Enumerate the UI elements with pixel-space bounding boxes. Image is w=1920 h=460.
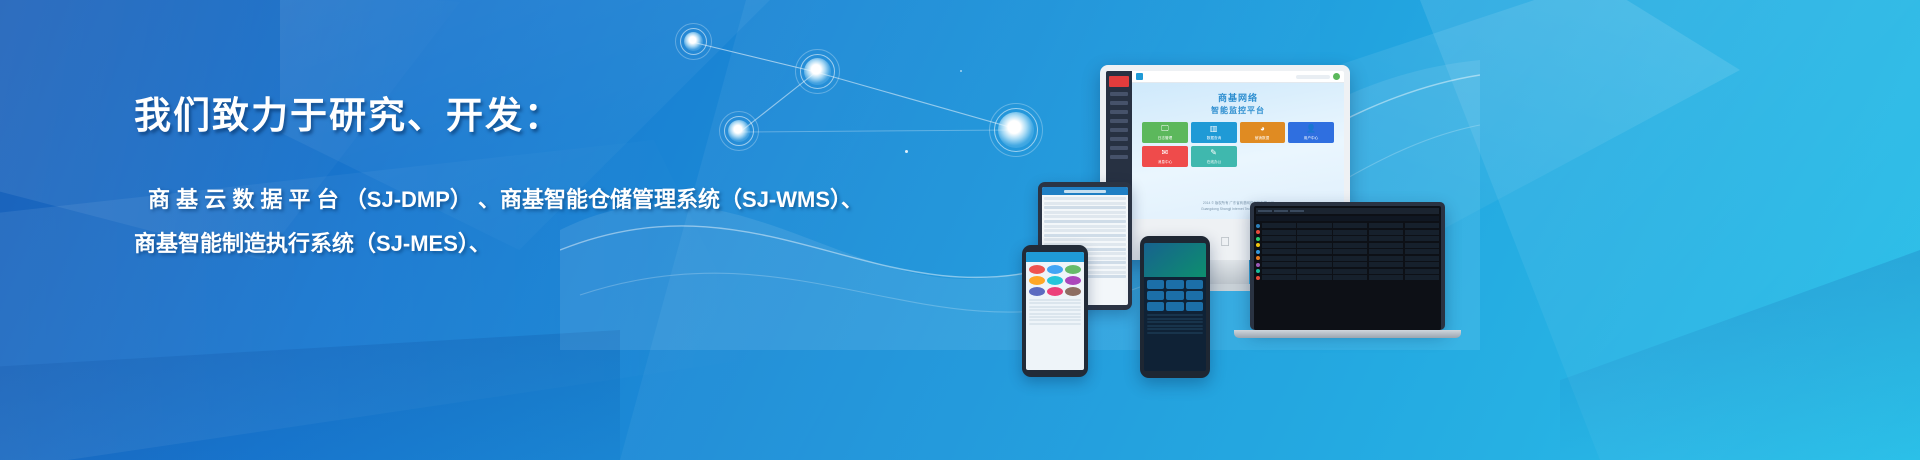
bg-facet-7 xyxy=(1560,250,1920,460)
bg-facet-8 xyxy=(0,330,620,460)
laptop-base xyxy=(1234,330,1461,338)
banner-copy: 我们致力于研究、开发： 商 基 云 数 据 平 台 （SJ-DMP） 、商基智能… xyxy=(134,88,954,266)
table-row xyxy=(1044,202,1126,205)
list-item xyxy=(1147,325,1203,327)
phone-header xyxy=(1026,252,1084,262)
laptop-table xyxy=(1256,223,1439,280)
app-icon[interactable] xyxy=(1186,302,1203,311)
table-row xyxy=(1044,206,1126,209)
table-row xyxy=(1256,243,1439,248)
sidebar-item[interactable] xyxy=(1110,119,1128,123)
user-icon: 👤 xyxy=(1306,125,1316,133)
monitor-icon: 🖵 xyxy=(1161,125,1169,133)
app-icon[interactable] xyxy=(1065,276,1081,285)
edit-icon: ✎ xyxy=(1210,149,1217,157)
list-item xyxy=(1029,309,1081,311)
phone-list xyxy=(1026,299,1084,325)
table-row xyxy=(1256,269,1439,274)
bar-chart-icon: ▥ xyxy=(1210,125,1218,133)
table-row xyxy=(1256,230,1439,235)
list-item xyxy=(1029,313,1081,315)
table-row xyxy=(1044,220,1126,223)
table-row xyxy=(1044,234,1126,237)
table-row xyxy=(1044,229,1126,232)
app-icon[interactable] xyxy=(1047,276,1063,285)
app-icon[interactable] xyxy=(1147,302,1164,311)
network-node-icon xyxy=(684,32,703,51)
tile-label: 日志管理 xyxy=(1158,135,1172,140)
app-icon[interactable] xyxy=(1047,265,1063,274)
app-icon[interactable] xyxy=(1029,276,1045,285)
search-input[interactable] xyxy=(1296,75,1330,79)
list-item xyxy=(1029,306,1081,308)
pie-chart-icon: ◕ xyxy=(1260,125,1265,133)
tile-message-center[interactable]: ✉ 消息中心 xyxy=(1142,146,1188,167)
laptop-screen xyxy=(1254,206,1441,330)
tile-user-center[interactable]: 👤 用户中心 xyxy=(1288,122,1334,143)
tile-label: 在线办公 xyxy=(1206,159,1220,164)
list-item xyxy=(1029,323,1081,325)
list-item xyxy=(1147,314,1203,316)
laptop-toolbar xyxy=(1256,208,1439,214)
hero-banner: 我们致力于研究、开发： 商 基 云 数 据 平 台 （SJ-DMP） 、商基智能… xyxy=(0,0,1920,460)
table-row xyxy=(1256,256,1439,261)
phone-screen-secondary xyxy=(1144,243,1206,371)
product-line-2: 商基智能制造执行系统（SJ-MES）、 xyxy=(134,222,954,266)
app-icon[interactable] xyxy=(1147,280,1164,289)
avatar[interactable] xyxy=(1333,73,1340,80)
list-item xyxy=(1029,319,1081,321)
sidebar-item[interactable] xyxy=(1110,137,1128,141)
app-icon[interactable] xyxy=(1166,302,1183,311)
table-row xyxy=(1044,238,1126,241)
tile-data-query[interactable]: ▥ 数据查询 xyxy=(1191,122,1237,143)
phone-app-grid-secondary xyxy=(1144,277,1206,314)
table-row xyxy=(1256,262,1439,267)
list-item xyxy=(1029,316,1081,318)
page-title: 我们致力于研究、开发： xyxy=(134,88,954,144)
phone-hero-banner xyxy=(1144,243,1206,277)
sidebar-item[interactable] xyxy=(1110,92,1128,96)
dashboard-tiles: 🖵 日志管理 ▥ 数据查询 ◕ 营销数据 xyxy=(1142,122,1334,167)
envelope-icon: ✉ xyxy=(1162,149,1169,157)
tablet-header xyxy=(1042,187,1128,195)
list-item xyxy=(1147,321,1203,323)
app-icon[interactable] xyxy=(1186,280,1203,289)
sidebar-item[interactable] xyxy=(1110,155,1128,159)
list-item xyxy=(1147,328,1203,330)
imac-screen: 商基网络 智能监控平台 🖵 日志管理 ▥ 数据查询 xyxy=(1106,71,1344,219)
sidebar-item[interactable] xyxy=(1110,101,1128,105)
dashboard-body: 商基网络 智能监控平台 🖵 日志管理 ▥ 数据查询 xyxy=(1132,83,1344,219)
table-row xyxy=(1044,225,1126,228)
tile-label: 用户中心 xyxy=(1304,135,1318,140)
app-icon[interactable] xyxy=(1166,291,1183,300)
list-item xyxy=(1147,332,1203,334)
phone-device xyxy=(1022,245,1088,377)
particle-dot xyxy=(960,70,962,72)
network-node-icon xyxy=(804,58,831,85)
device-cluster: 商基网络 智能监控平台 🖵 日志管理 ▥ 数据查询 xyxy=(1000,40,1500,360)
sidebar-item[interactable] xyxy=(1110,110,1128,114)
app-icon[interactable] xyxy=(1029,265,1045,274)
list-item xyxy=(1147,318,1203,320)
app-icon[interactable] xyxy=(1047,287,1063,296)
laptop-tabbar[interactable] xyxy=(1256,216,1439,221)
app-icon[interactable] xyxy=(1147,291,1164,300)
list-item xyxy=(1029,302,1081,304)
app-icon[interactable] xyxy=(1166,280,1183,289)
laptop-device xyxy=(1250,202,1445,330)
table-row xyxy=(1044,211,1126,214)
sidebar-item[interactable] xyxy=(1110,128,1128,132)
phone-device-secondary xyxy=(1140,236,1210,378)
dashboard-title: 商基网络 xyxy=(1218,91,1258,104)
tile-marketing-data[interactable]: ◕ 营销数据 xyxy=(1240,122,1286,143)
phone-screen xyxy=(1026,252,1084,370)
tile-label: 营销数据 xyxy=(1255,135,1269,140)
list-item xyxy=(1029,299,1081,301)
app-icon[interactable] xyxy=(1029,287,1045,296)
table-row xyxy=(1256,236,1439,241)
tile-label: 数据查询 xyxy=(1206,135,1220,140)
tile-online-office[interactable]: ✎ 在线办公 xyxy=(1191,146,1237,167)
table-row xyxy=(1044,197,1126,200)
table-row xyxy=(1044,215,1126,218)
table-row xyxy=(1256,275,1439,280)
app-icon[interactable] xyxy=(1186,291,1203,300)
dashboard-subtitle: 智能监控平台 xyxy=(1211,105,1265,116)
phone-app-grid xyxy=(1026,262,1084,299)
tile-log-management[interactable]: 🖵 日志管理 xyxy=(1142,122,1188,143)
dashboard-topbar xyxy=(1132,71,1344,83)
app-icon[interactable] xyxy=(1065,265,1081,274)
tile-label: 消息中心 xyxy=(1158,159,1172,164)
table-header-row xyxy=(1256,223,1439,228)
table-row xyxy=(1256,249,1439,254)
product-line-1: 商 基 云 数 据 平 台 （SJ-DMP） 、商基智能仓储管理系统（SJ-WM… xyxy=(134,178,954,222)
sidebar-item[interactable] xyxy=(1110,146,1128,150)
menu-toggle-icon[interactable] xyxy=(1136,73,1143,80)
brand-logo-icon xyxy=(1109,76,1129,87)
app-icon[interactable] xyxy=(1065,287,1081,296)
